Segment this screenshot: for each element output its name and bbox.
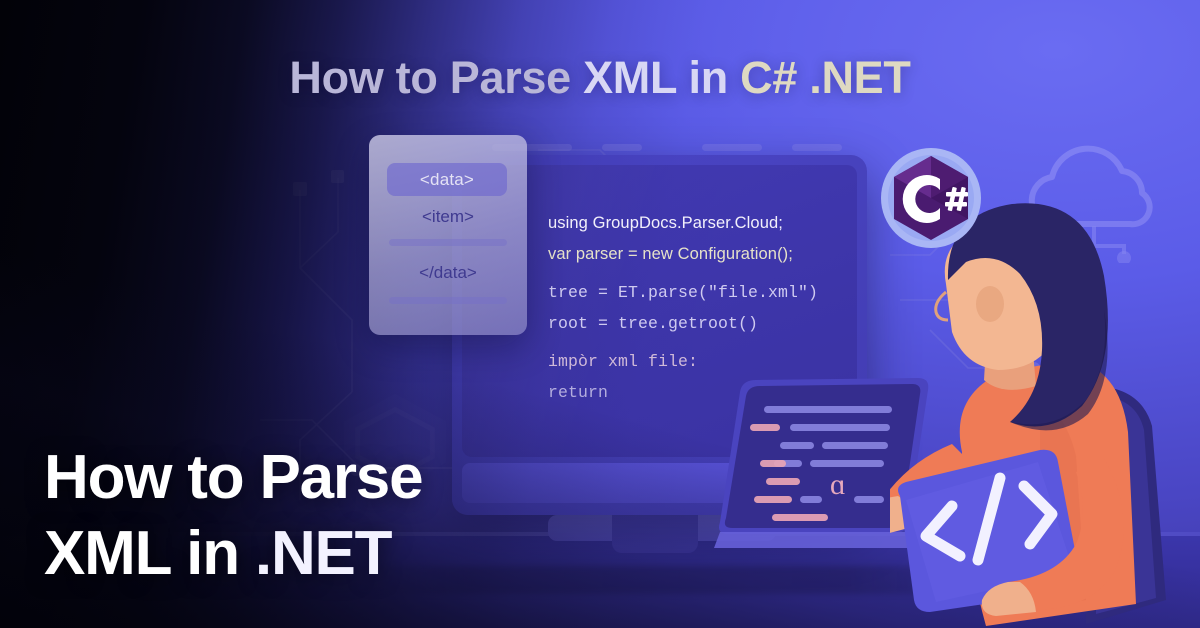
xml-document-card: <data> <item> </data> — [369, 135, 527, 335]
xml-tag-open-pill: <data> — [387, 163, 507, 196]
code-line: tree = ET.parse("file.xml") — [548, 277, 878, 308]
code-gap — [548, 339, 878, 346]
ear — [976, 286, 1004, 322]
person-illustration — [890, 200, 1200, 628]
xml-rule-line — [389, 297, 507, 304]
top-title-part-xml: XML in — [583, 52, 740, 103]
main-title: How to Parse XML in .NET — [44, 440, 422, 592]
main-title-xml-in: XML in — [44, 519, 239, 588]
main-title-dotnet: .NET — [239, 519, 391, 588]
code-line: var parser = new Configuration(); — [548, 239, 878, 270]
xml-tag-open-label: <data> — [420, 170, 474, 190]
top-title: How to Parse XML in C# .NET — [0, 52, 1200, 104]
xml-tag-item-label: <item> — [369, 207, 527, 227]
top-title-part-csharp: C# .NET — [740, 52, 910, 103]
banner-canvas: using GroupDocs.Parser.Cloud; var parser… — [0, 0, 1200, 628]
code-line: root = tree.getroot() — [548, 308, 878, 339]
xml-tag-close-label: </data> — [369, 263, 527, 283]
main-title-line-1: How to Parse — [44, 440, 422, 516]
csharp-logo-icon — [880, 147, 982, 249]
code-gap — [548, 270, 878, 277]
alpha-glyph-icon: ɑ — [830, 468, 846, 501]
xml-rule-line — [389, 239, 507, 246]
code-line: using GroupDocs.Parser.Cloud; — [548, 208, 878, 239]
top-title-part-how: How to Parse — [289, 52, 583, 103]
main-title-line-2: XML in .NET — [44, 516, 422, 592]
